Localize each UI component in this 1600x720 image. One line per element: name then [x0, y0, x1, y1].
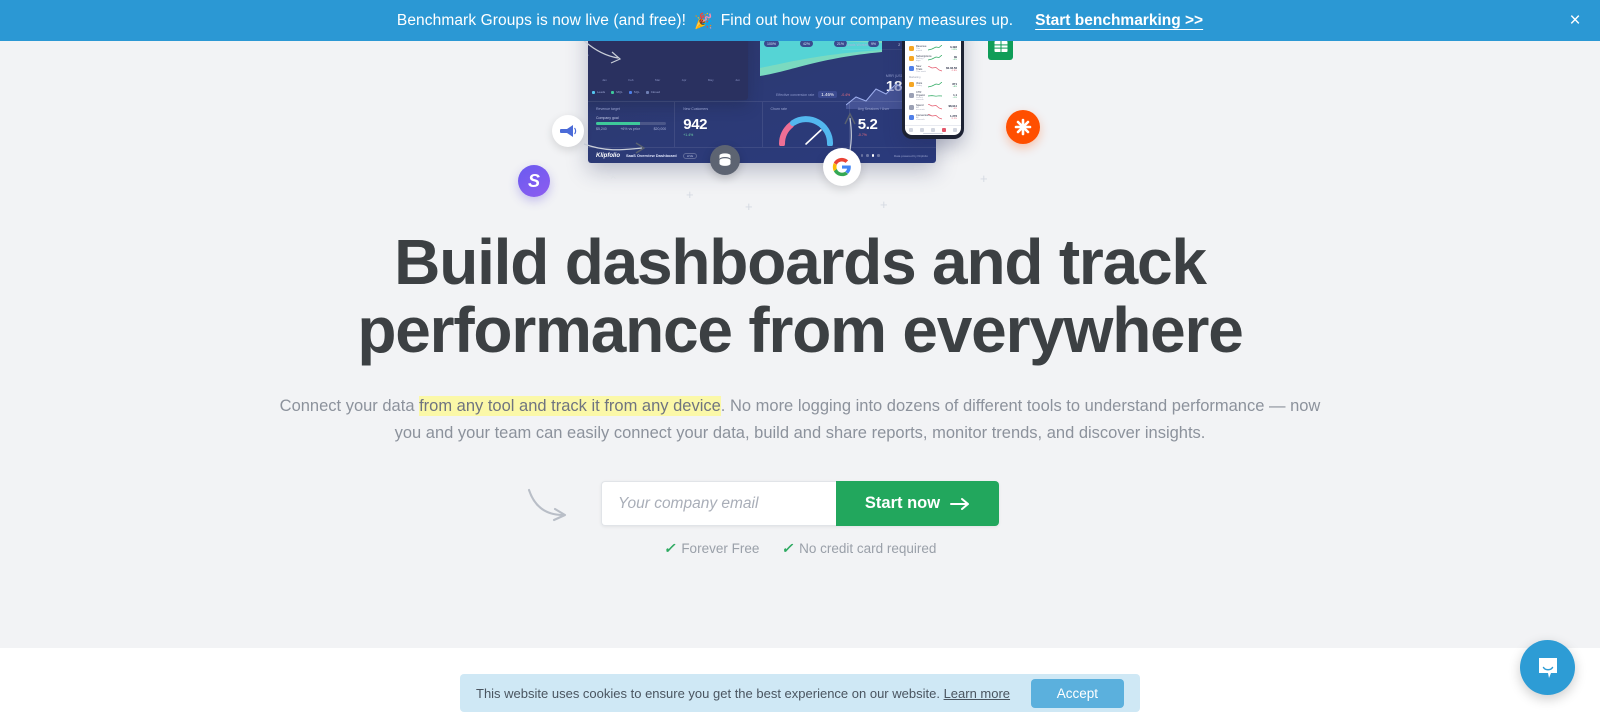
email-input[interactable] — [601, 481, 836, 526]
start-now-button[interactable]: Start now — [836, 481, 999, 526]
metric-sparkline-icon — [928, 55, 942, 61]
metric-names: New TrialsThis week — [916, 65, 926, 73]
metric-sparkline-icon — [928, 66, 942, 72]
close-icon[interactable]: × — [1564, 10, 1586, 32]
phone-tab-grid-icon[interactable] — [920, 128, 924, 132]
phone-tab-bar[interactable] — [905, 125, 961, 132]
funnel-stage: 42% — [800, 40, 813, 47]
metric-name: CTR Organic — [916, 91, 926, 97]
assurance-forever-free: ✓ Forever Free — [664, 540, 760, 557]
metric-subtitle: All channels — [916, 117, 926, 121]
curved-arrow-icon — [525, 484, 571, 526]
cookie-learn-more-link[interactable]: Learn more — [944, 686, 1010, 701]
decorative-plus-icon: + — [880, 198, 888, 211]
metric-source-icon — [909, 46, 914, 51]
phone-tab-chart-icon[interactable] — [931, 128, 935, 132]
funnel-footer-value: 1.46% — [818, 91, 837, 98]
metric-source-icon — [909, 82, 914, 87]
chat-bubble-icon — [1535, 655, 1561, 681]
party-popper-icon: 🎉 — [694, 12, 713, 30]
table-cell-count: 2 — [898, 43, 900, 47]
funnel-stage: 100% — [764, 40, 779, 47]
page-title: Build dashboards and track performance f… — [0, 228, 1600, 364]
headline-line-2: performance from everywhere — [357, 294, 1242, 366]
metric-subtitle: This week — [916, 71, 926, 73]
card-delta: +1.4% — [683, 133, 753, 137]
metric-sparkline-icon — [928, 45, 942, 51]
start-now-label: Start now — [865, 494, 940, 513]
google-icon — [823, 148, 861, 186]
landing-page: 120k 90k 60k 30k 0 JanFebMarAprMayJun Le… — [0, 0, 1600, 720]
cookie-accept-button[interactable]: Accept — [1031, 679, 1124, 708]
megaphone-glyph — [559, 122, 577, 140]
start-benchmarking-link[interactable]: Start benchmarking >> — [1035, 12, 1203, 30]
announcement-text-1: Benchmark Groups is now live (and free)! — [397, 12, 686, 30]
database-glyph — [717, 152, 733, 168]
dashboard-footer-note: Data powered by Klipfolio — [894, 154, 928, 158]
phone-metric-row[interactable]: RevenueThis month3,492+12% — [905, 43, 961, 53]
metric-source-icon — [909, 105, 914, 110]
cookie-consent-bar: This website uses cookies to ensure you … — [460, 674, 1140, 712]
metric-values: 1.1+1% — [944, 93, 957, 99]
funnel-footer-label: Effective conversion rate — [776, 93, 814, 97]
phone-metric-list: FavoritesRevenueThis month3,492+12%Subsc… — [905, 37, 961, 122]
metric-value: $0.03.56 — [944, 66, 957, 70]
metric-delta: -2.8% — [944, 70, 957, 72]
card-title: Revenue target — [596, 107, 666, 111]
x-tick: Jun — [735, 78, 740, 82]
metric-subtitle: Rolling 7 days — [916, 58, 926, 62]
metric-delta: -1.2% — [944, 118, 957, 120]
metric-subtitle: Today — [916, 85, 926, 87]
check-icon: ✓ — [664, 540, 676, 557]
zapier-icon — [1006, 110, 1040, 144]
metric-names: VisitsToday — [916, 82, 926, 87]
megaphone-icon — [552, 115, 584, 147]
progress-fill — [596, 122, 640, 125]
x-tick: May — [708, 78, 714, 82]
google-g-glyph — [832, 157, 852, 177]
metric-subtitle: This month — [916, 48, 926, 52]
metric-subtitle: Ad accounts — [916, 107, 926, 111]
metric-delta: +3% — [944, 59, 957, 61]
hero-section: 120k 90k 60k 30k 0 JanFebMarAprMayJun Le… — [0, 0, 1600, 648]
metric-values: $8,914-4% — [944, 104, 957, 110]
metric-names: SubscriptionsRolling 7 days — [916, 55, 926, 62]
phone-metric-row[interactable]: SubscriptionsRolling 7 days39+3% — [905, 53, 961, 63]
metric-values: 871+8% — [944, 82, 957, 88]
assurance-label: Forever Free — [681, 541, 759, 556]
metric-names: RevenueThis month — [916, 45, 926, 52]
announcement-text-2: Find out how your company measures up. — [721, 12, 1013, 30]
slack-s-icon: S — [518, 165, 550, 197]
database-icon — [710, 145, 740, 175]
assurance-no-credit-card: ✓ No credit card required — [781, 540, 936, 557]
metric-values: 3,492+12% — [944, 45, 957, 51]
card-value: 942 — [683, 116, 753, 133]
metric-sparkline-icon — [928, 93, 942, 99]
phone-metric-row[interactable]: New TrialsThis week$0.03.56-2.8% — [905, 63, 961, 74]
phone-tab-alerts-icon[interactable] — [942, 128, 946, 132]
metric-source-icon — [909, 66, 914, 71]
subtitle-part-1: Connect your data — [280, 397, 419, 415]
arrow-right-icon — [950, 497, 970, 511]
metric-names: ConversionsAll channels — [916, 114, 926, 121]
phone-tab-profile-icon[interactable] — [953, 128, 957, 132]
metric-values: 39+3% — [944, 55, 957, 61]
progress-label: Company goal — [596, 116, 666, 120]
decorative-plus-icon: + — [686, 188, 694, 201]
headline-line-1: Build dashboards and track — [394, 226, 1206, 298]
metric-names: SpendAd accounts — [916, 104, 926, 111]
announcement-banner: Benchmark Groups is now live (and free)!… — [0, 0, 1600, 41]
intercom-chat-launcher[interactable] — [1520, 640, 1575, 695]
phone-metric-row[interactable]: ConversionsAll channels1,276-1.2% — [905, 112, 961, 122]
phone-metric-row[interactable]: SpendAd accounts$8,914-4% — [905, 102, 961, 112]
decorative-plus-icon: + — [980, 172, 988, 185]
hero-subtitle: Connect your data from any tool and trac… — [270, 393, 1330, 447]
metric-names: CTR OrganicSearch console — [916, 91, 926, 101]
metric-subtitle: Search console — [916, 97, 926, 101]
funnel-footer: Effective conversion rate 1.46% -0.4% — [776, 91, 850, 98]
announcement-content: Benchmark Groups is now live (and free)!… — [397, 12, 1203, 30]
metric-sparkline-icon — [928, 82, 942, 88]
connector-arrow-mid — [582, 126, 692, 166]
metric-sparkline-icon — [928, 114, 942, 120]
metric-values: $0.03.56-2.8% — [944, 66, 957, 72]
assurance-row: ✓ Forever Free ✓ No credit card required — [0, 540, 1600, 557]
phone-home-indicator — [923, 133, 943, 135]
check-icon: ✓ — [781, 540, 793, 557]
metric-source-icon — [909, 93, 914, 98]
metric-delta: +12% — [944, 49, 957, 51]
table-cell-label: Leads Worked — [846, 43, 869, 47]
cookie-message-text: This website uses cookies to ensure you … — [476, 686, 940, 701]
metric-delta: +1% — [944, 97, 957, 99]
metric-source-icon — [909, 115, 914, 120]
x-tick: Apr — [682, 78, 687, 82]
zapier-asterisk-glyph — [1014, 118, 1032, 136]
card-title: New Customers — [683, 107, 753, 111]
decorative-plus-icon: + — [745, 200, 753, 213]
phone-metric-row[interactable]: CTR OrganicSearch console1.1+1% — [905, 89, 961, 102]
metric-sparkline-icon — [928, 104, 942, 110]
metric-source-icon — [909, 56, 914, 61]
metric-delta: -4% — [944, 108, 957, 110]
metric-delta: +8% — [944, 86, 957, 88]
subtitle-highlight: from any tool and track it from any devi… — [419, 396, 721, 416]
metric-values: 1,276-1.2% — [944, 114, 957, 120]
signup-form[interactable]: Start now — [601, 481, 999, 526]
progress-track — [596, 122, 666, 125]
assurance-label: No credit card required — [799, 541, 936, 556]
phone-metric-row[interactable]: VisitsToday871+8% — [905, 80, 961, 89]
decorative-x-icon: × — [610, 172, 616, 183]
phone-tab-home-icon[interactable] — [909, 128, 913, 132]
cookie-message: This website uses cookies to ensure you … — [476, 686, 1010, 701]
